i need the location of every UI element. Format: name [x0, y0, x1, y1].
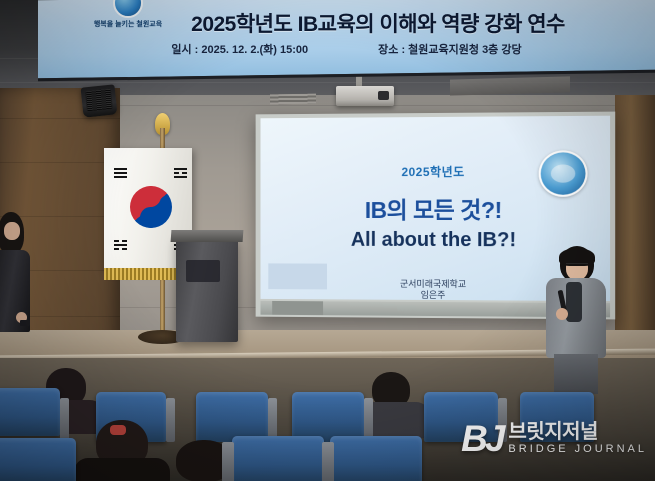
seat [0, 438, 76, 481]
wood-wall-right [615, 95, 655, 345]
audience-shoulders [74, 458, 170, 481]
seat [196, 392, 268, 442]
ceiling-duct [450, 76, 570, 95]
watermark-name-korean: 브릿지저널 [508, 422, 647, 442]
seat-rail [166, 398, 175, 442]
side-attendee-face [4, 222, 20, 240]
lectern-top [171, 230, 244, 242]
event-banner: 행복을 늘키는 철원교육 철원교육지원청 2025학년도 IB교육의 이해와 역… [38, 0, 655, 81]
seat-rail [60, 398, 69, 442]
presenter-inner-top [566, 282, 582, 322]
taeguk-icon [130, 186, 172, 228]
seat [0, 388, 60, 436]
seat [292, 392, 364, 442]
watermark-monogram: BJ [461, 420, 502, 457]
seat-rail [222, 442, 234, 481]
seat-rail [322, 442, 334, 481]
lectern-control-panel [186, 260, 220, 282]
presenter [540, 246, 612, 391]
banner-date: 일시 : 2025. 12. 2.(화) 15:00 [171, 41, 308, 57]
seat [330, 436, 422, 481]
ceiling-projector [336, 86, 394, 106]
hair-clip-icon [110, 425, 126, 435]
seat [232, 436, 324, 481]
side-attendee [0, 212, 36, 352]
banner-place: 장소 : 철원교육지원청 3층 강당 [378, 41, 521, 57]
presenter-hand [556, 308, 568, 320]
lectern [176, 238, 238, 342]
glasses-icon [566, 263, 588, 270]
air-vent [270, 94, 316, 105]
slide-year: 2025학년도 [260, 162, 610, 180]
slide-title-korean: IB의 모든 것?! [260, 191, 610, 225]
ceiling-speaker [81, 84, 118, 117]
watermark-name-english: BRIDGE JOURNAL [508, 444, 647, 455]
projector-lens-icon [378, 91, 389, 100]
banner-title: 2025학년도 IB교육의 이해와 역량 강화 연수 [108, 8, 648, 38]
phone-icon [20, 320, 30, 326]
presenter-trousers [554, 354, 598, 394]
watermark-logo: BJ 브릿지저널 BRIDGE JOURNAL [461, 420, 647, 457]
auditorium-photo: 행복을 늘키는 철원교육 철원교육지원청 2025학년도 IB교육의 이해와 역… [0, 0, 655, 481]
